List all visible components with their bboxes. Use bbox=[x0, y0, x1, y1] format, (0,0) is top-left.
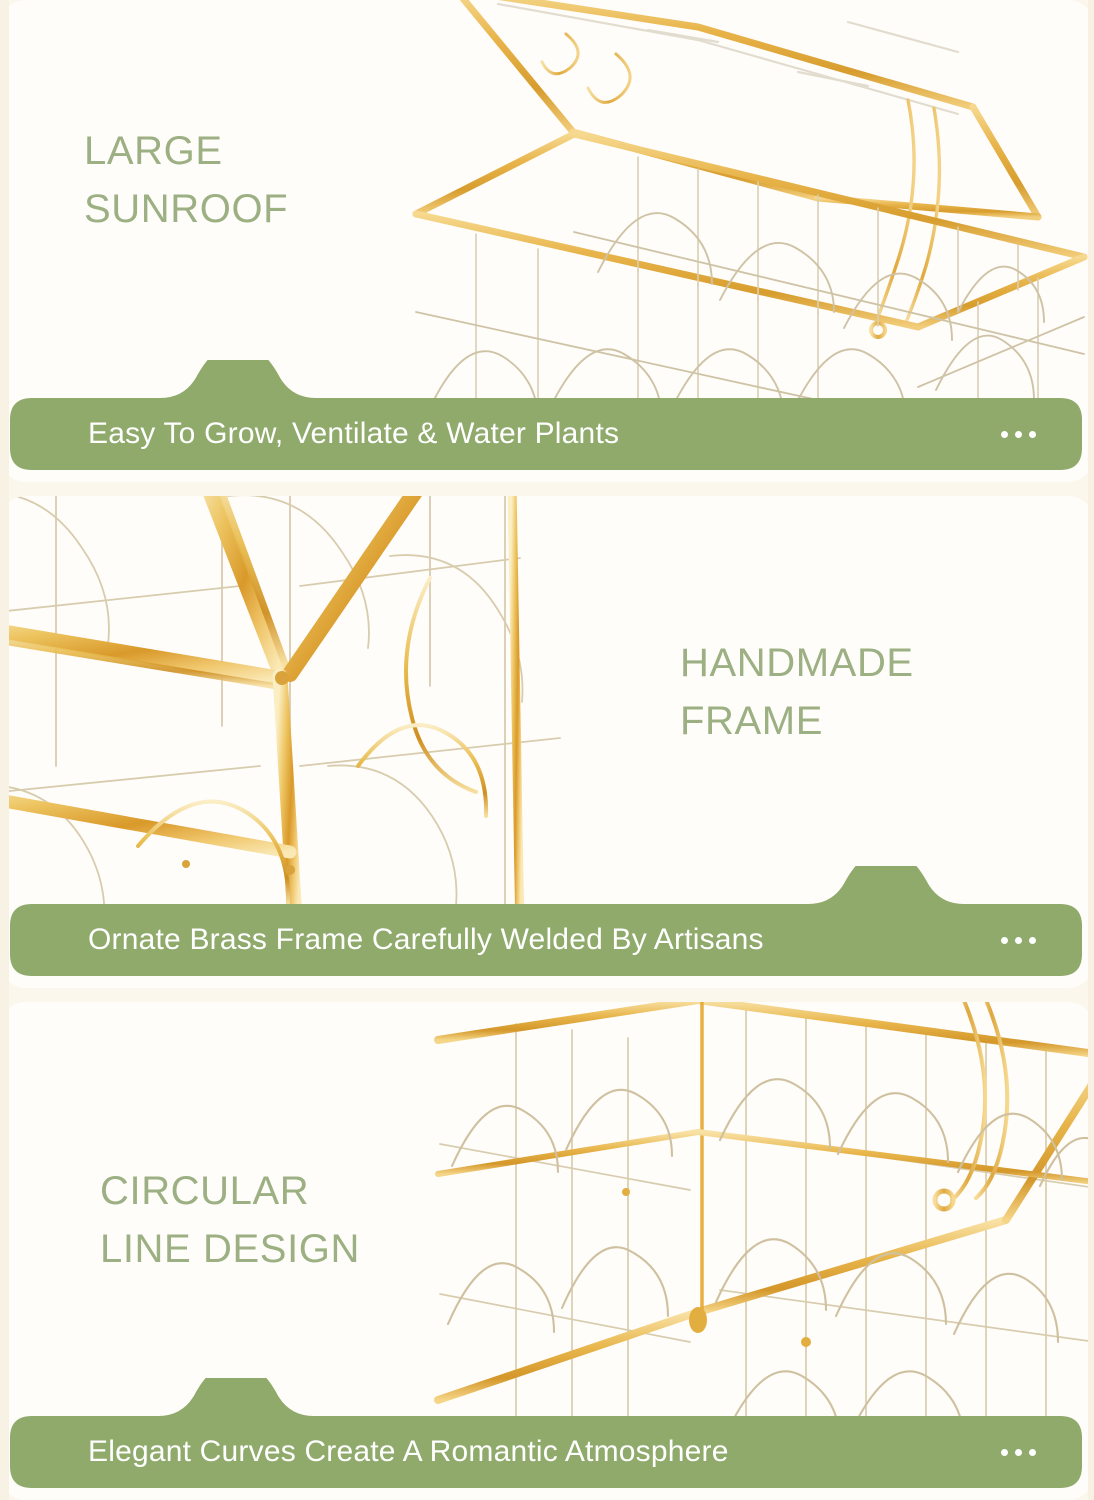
panel-stage: LARGE SUNROOF Easy To Grow, Ventilate & … bbox=[0, 0, 1094, 482]
section-headline: HANDMADE FRAME bbox=[680, 634, 914, 750]
feature-section-large-sunroof: LARGE SUNROOF Easy To Grow, Ventilate & … bbox=[0, 0, 1094, 482]
feature-section-handmade-frame: HANDMADE FRAME Ornate Brass Frame Carefu… bbox=[0, 496, 1094, 988]
section-headline: LARGE SUNROOF bbox=[84, 122, 288, 238]
curved-wire-body-illustration bbox=[420, 1002, 1094, 1434]
infographic-page: LARGE SUNROOF Easy To Grow, Ventilate & … bbox=[0, 0, 1094, 1500]
section-divider bbox=[0, 482, 1094, 496]
section-headline: CIRCULAR LINE DESIGN bbox=[100, 1162, 360, 1278]
panel-stage: CIRCULAR LINE DESIGN Elegant Curves Crea… bbox=[0, 1002, 1094, 1500]
panel-stage: HANDMADE FRAME Ornate Brass Frame Carefu… bbox=[0, 496, 1094, 988]
feature-section-circular-line-design: CIRCULAR LINE DESIGN Elegant Curves Crea… bbox=[0, 1002, 1094, 1500]
ellipsis-icon[interactable] bbox=[1001, 904, 1036, 976]
greenhouse-sunroof-illustration bbox=[398, 0, 1094, 412]
section-divider bbox=[0, 988, 1094, 1002]
brass-joint-closeup-illustration bbox=[0, 496, 600, 936]
